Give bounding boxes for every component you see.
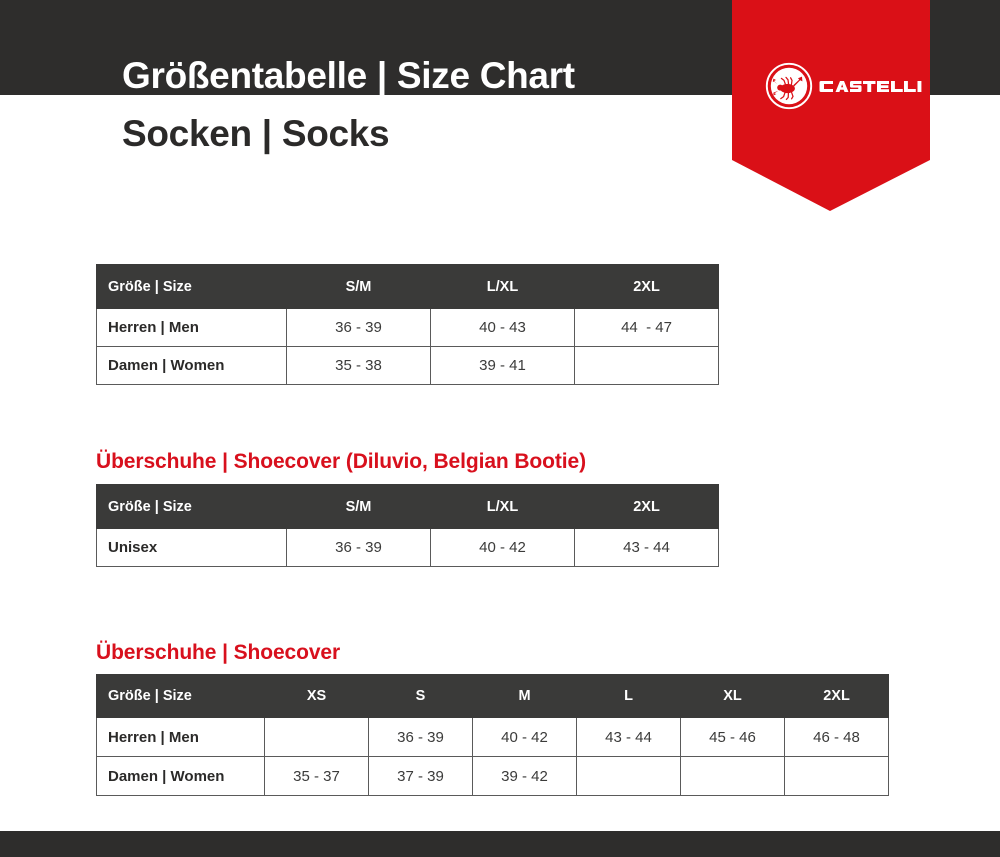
table-header-row: Größe | Size XS S M L XL 2XL xyxy=(97,675,889,718)
table-row: Damen | Women 35 - 38 39 - 41 xyxy=(97,347,719,385)
castelli-logo xyxy=(765,61,925,111)
socks-size-table: Größe | Size S/M L/XL 2XL Herren | Men 3… xyxy=(96,264,719,385)
section-heading-shoecover: Überschuhe | Shoecover xyxy=(96,641,340,665)
cell-women-sm: 35 - 38 xyxy=(287,347,431,385)
shoecover-size-table: Größe | Size XS S M L XL 2XL Herren | Me… xyxy=(96,674,889,796)
shoecover-diluvio-size-table: Größe | Size S/M L/XL 2XL Unisex 36 - 39… xyxy=(96,484,719,567)
cell-men-l: 43 - 44 xyxy=(577,718,681,757)
cell-unisex-lxl: 40 - 42 xyxy=(431,529,575,567)
row-label-unisex: Unisex xyxy=(97,529,287,567)
cell-women-xl xyxy=(681,757,785,796)
column-header-size: Größe | Size xyxy=(97,265,287,309)
column-header-sm: S/M xyxy=(287,485,431,529)
page-subtitle: Socken | Socks xyxy=(122,115,389,152)
cell-men-2xl: 46 - 48 xyxy=(785,718,889,757)
row-label-women: Damen | Women xyxy=(97,757,265,796)
row-label-women: Damen | Women xyxy=(97,347,287,385)
cell-women-l xyxy=(577,757,681,796)
column-header-size: Größe | Size xyxy=(97,675,265,718)
column-header-sm: S/M xyxy=(287,265,431,309)
cell-men-s: 36 - 39 xyxy=(369,718,473,757)
section-heading-shoecover-diluvio: Überschuhe | Shoecover (Diluvio, Belgian… xyxy=(96,450,586,474)
column-header-xl: XL xyxy=(681,675,785,718)
table-header-row: Größe | Size S/M L/XL 2XL xyxy=(97,485,719,529)
cell-women-lxl: 39 - 41 xyxy=(431,347,575,385)
column-header-size: Größe | Size xyxy=(97,485,287,529)
cell-men-2xl: 44 - 47 xyxy=(575,309,719,347)
cell-men-lxl: 40 - 43 xyxy=(431,309,575,347)
footer-band xyxy=(0,831,1000,857)
table-row: Unisex 36 - 39 40 - 42 43 - 44 xyxy=(97,529,719,567)
cell-women-xs: 35 - 37 xyxy=(265,757,369,796)
cell-unisex-sm: 36 - 39 xyxy=(287,529,431,567)
row-label-men: Herren | Men xyxy=(97,309,287,347)
cell-women-2xl xyxy=(575,347,719,385)
cell-men-sm: 36 - 39 xyxy=(287,309,431,347)
page-title: Größentabelle | Size Chart xyxy=(122,57,575,94)
cell-women-m: 39 - 42 xyxy=(473,757,577,796)
castelli-wordmark xyxy=(819,77,934,96)
column-header-s: S xyxy=(369,675,473,718)
castelli-scorpion-icon xyxy=(765,62,813,110)
cell-unisex-2xl: 43 - 44 xyxy=(575,529,719,567)
cell-men-xl: 45 - 46 xyxy=(681,718,785,757)
column-header-m: M xyxy=(473,675,577,718)
column-header-lxl: L/XL xyxy=(431,485,575,529)
table-row: Herren | Men 36 - 39 40 - 42 43 - 44 45 … xyxy=(97,718,889,757)
table-row: Herren | Men 36 - 39 40 - 43 44 - 47 xyxy=(97,309,719,347)
table-header-row: Größe | Size S/M L/XL 2XL xyxy=(97,265,719,309)
column-header-2xl: 2XL xyxy=(785,675,889,718)
table-row: Damen | Women 35 - 37 37 - 39 39 - 42 xyxy=(97,757,889,796)
column-header-2xl: 2XL xyxy=(575,265,719,309)
row-label-men: Herren | Men xyxy=(97,718,265,757)
cell-women-s: 37 - 39 xyxy=(369,757,473,796)
column-header-2xl: 2XL xyxy=(575,485,719,529)
column-header-lxl: L/XL xyxy=(431,265,575,309)
cell-women-2xl xyxy=(785,757,889,796)
column-header-xs: XS xyxy=(265,675,369,718)
cell-men-xs xyxy=(265,718,369,757)
cell-men-m: 40 - 42 xyxy=(473,718,577,757)
size-chart-page: Größentabelle | Size Chart Größentabelle… xyxy=(0,0,1000,857)
column-header-l: L xyxy=(577,675,681,718)
